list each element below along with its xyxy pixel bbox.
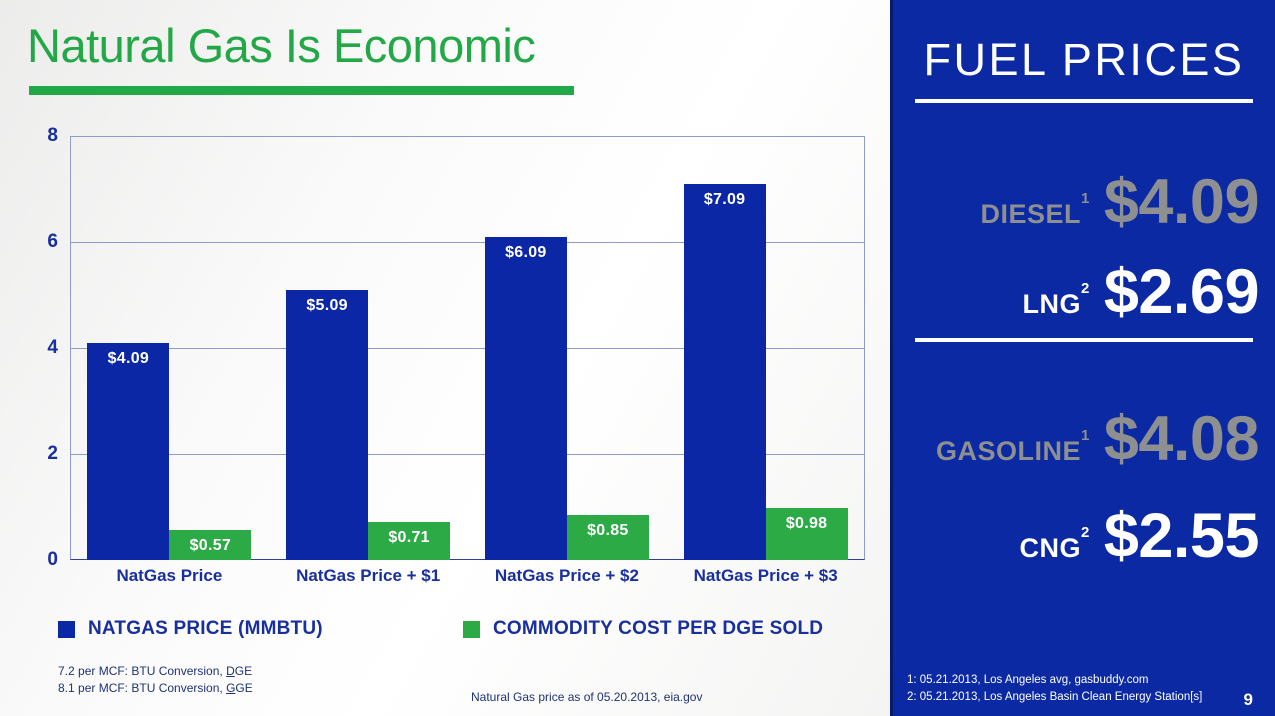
fuel-name-label: CNG2 [1020, 533, 1090, 564]
bar-value-label: $5.09 [286, 297, 368, 315]
fuel-price-row: GASOLINE1$4.08 [893, 403, 1259, 475]
chart-legend: NATGAS PRICE (MMBTU)COMMODITY COST PER D… [58, 618, 868, 648]
x-axis-category-label: NatGas Price + $3 [666, 566, 865, 586]
bar-value-label: $0.57 [169, 537, 251, 555]
fuel-price-footnotes: 1: 05.21.2013, Los Angeles avg, gasbuddy… [907, 672, 1202, 707]
fuel-price-row: CNG2$2.55 [893, 500, 1259, 572]
bar-commodity-cost: $0.85 [567, 515, 649, 560]
fuel-footnote-marker: 2 [1081, 280, 1090, 297]
bar-commodity-cost: $0.57 [169, 530, 251, 560]
x-axis-category-label: NatGas Price [70, 566, 269, 586]
footnote-gge: 8.1 per MCF: BTU Conversion, GGE [58, 680, 253, 697]
bar-commodity-cost: $0.98 [766, 508, 848, 560]
bar-value-label: $4.09 [87, 350, 169, 368]
bar-chart: 02468 $4.09$0.57$5.09$0.71$6.09$0.85$7.0… [70, 136, 865, 560]
bar-value-label: $0.98 [766, 515, 848, 533]
legend-swatch-icon [58, 621, 75, 638]
chart-source-note: Natural Gas price as of 05.20.2013, eia.… [471, 690, 702, 704]
fuel-footnote-marker: 1 [1081, 190, 1090, 207]
legend-label: COMMODITY COST PER DGE SOLD [493, 618, 823, 640]
y-axis-tick-label: 4 [47, 337, 58, 359]
panel-rule-top [915, 99, 1253, 103]
bar-natgas-price: $6.09 [485, 237, 567, 560]
fuel-prices-panel: FUEL PRICES DIESEL1$4.09LNG2$2.69GASOLIN… [890, 0, 1275, 716]
page-number: 9 [1244, 690, 1253, 710]
y-axis-tick-label: 6 [47, 231, 58, 253]
bar-value-label: $7.09 [684, 191, 766, 209]
conversion-footnotes: 7.2 per MCF: BTU Conversion, DGE 8.1 per… [58, 663, 253, 698]
bar-natgas-price: $4.09 [87, 343, 169, 560]
fuel-footnote-marker: 1 [1081, 427, 1090, 444]
x-axis-category-label: NatGas Price + $2 [468, 566, 667, 586]
fuel-price-row: DIESEL1$4.09 [893, 166, 1259, 238]
fuel-prices-heading: FUEL PRICES [893, 34, 1275, 86]
fuel-footnote-1: 1: 05.21.2013, Los Angeles avg, gasbuddy… [907, 672, 1202, 689]
fuel-footnote-2: 2: 05.21.2013, Los Angeles Basin Clean E… [907, 689, 1202, 706]
footnote-dge: 7.2 per MCF: BTU Conversion, DGE [58, 663, 253, 680]
left-content-panel: Natural Gas Is Economic 02468 $4.09$0.57… [0, 0, 890, 716]
fuel-footnote-marker: 2 [1081, 524, 1090, 541]
fuel-price-value: $4.08 [1104, 403, 1259, 475]
bar-value-label: $0.85 [567, 522, 649, 540]
bar-value-label: $6.09 [485, 244, 567, 262]
legend-label: NATGAS PRICE (MMBTU) [88, 618, 323, 640]
fuel-price-row: LNG2$2.69 [893, 256, 1259, 328]
page-title: Natural Gas Is Economic [27, 18, 535, 73]
x-axis-category-label: NatGas Price + $1 [269, 566, 468, 586]
fuel-name-label: GASOLINE1 [936, 436, 1090, 467]
y-axis-tick-label: 8 [47, 125, 58, 147]
bar-natgas-price: $7.09 [684, 184, 766, 560]
fuel-name-label: LNG2 [1023, 289, 1090, 320]
fuel-price-value: $2.69 [1104, 256, 1259, 328]
legend-item: NATGAS PRICE (MMBTU) [58, 618, 323, 640]
bar-commodity-cost: $0.71 [368, 522, 450, 560]
y-axis-tick-label: 0 [47, 549, 58, 571]
bar-natgas-price: $5.09 [286, 290, 368, 560]
fuel-name-label: DIESEL1 [980, 199, 1089, 230]
panel-rule-middle [915, 338, 1253, 342]
slide-canvas: Natural Gas Is Economic 02468 $4.09$0.57… [0, 0, 1275, 716]
bar-value-label: $0.71 [368, 529, 450, 547]
fuel-price-value: $4.09 [1104, 166, 1259, 238]
legend-item: COMMODITY COST PER DGE SOLD [463, 618, 823, 640]
fuel-price-value: $2.55 [1104, 500, 1259, 572]
legend-swatch-icon [463, 621, 480, 638]
title-underline-rule [29, 86, 574, 95]
y-axis-tick-label: 2 [47, 443, 58, 465]
